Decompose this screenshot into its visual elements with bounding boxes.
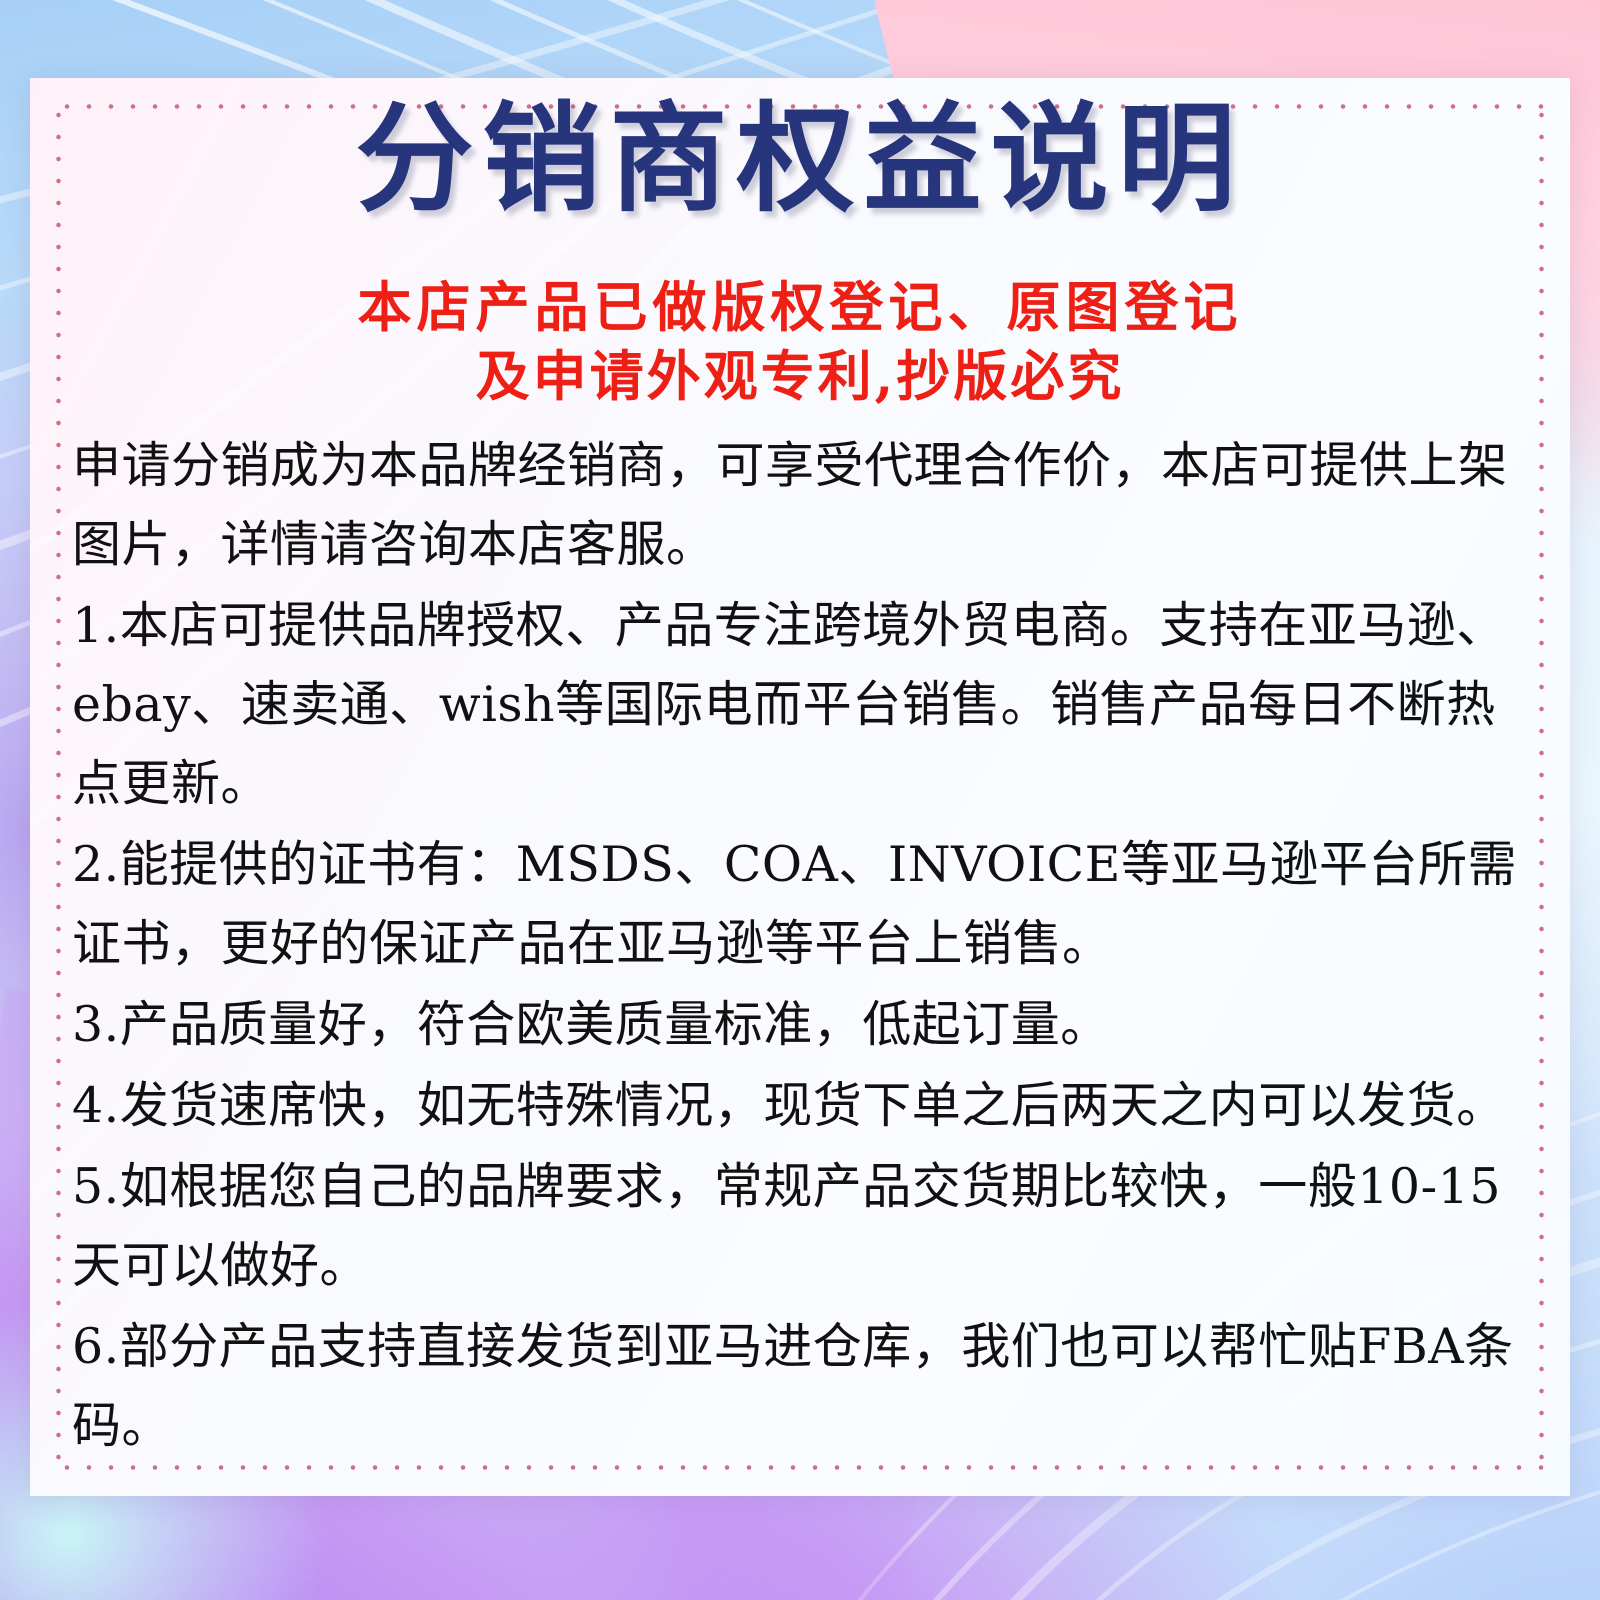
intro-paragraph: 申请分销成为本品牌经销商，可享受代理合作价，本店可提供上架图片，详情请咨询本店客… — [72, 426, 1540, 584]
list-item: 5.如根据您自己的品牌要求，常规产品交货期比较快，一般10-15天可以做好。 — [72, 1147, 1540, 1305]
copyright-notice-line-1: 本店产品已做版权登记、原图登记 — [30, 273, 1570, 342]
content-card: 分销商权益说明 本店产品已做版权登记、原图登记 及申请外观专利,抄版必究 申请分… — [30, 78, 1570, 1496]
poster-canvas: 分销商权益说明 本店产品已做版权登记、原图登记 及申请外观专利,抄版必究 申请分… — [0, 0, 1600, 1600]
list-item: 6.部分产品支持直接发货到亚马进仓库，我们也可以帮忙贴FBA条码。 — [72, 1307, 1540, 1465]
card-content: 分销商权益说明 本店产品已做版权登记、原图登记 及申请外观专利,抄版必究 申请分… — [30, 78, 1570, 1496]
body-text: 申请分销成为本品牌经销商，可享受代理合作价，本店可提供上架图片，详情请咨询本店客… — [72, 426, 1540, 1467]
page-title: 分销商权益说明 — [30, 98, 1570, 222]
copyright-notice: 本店产品已做版权登记、原图登记 及申请外观专利,抄版必究 — [30, 273, 1570, 411]
list-item: 1.本店可提供品牌授权、产品专注跨境外贸电商。支持在亚马逊、ebay、速卖通、w… — [72, 586, 1540, 823]
list-item: 2.能提供的证书有：MSDS、COA、INVOICE等亚马逊平台所需证书，更好的… — [72, 825, 1540, 983]
copyright-notice-line-2: 及申请外观专利,抄版必究 — [30, 342, 1570, 411]
list-item: 4.发货速席快，如无特殊情况，现货下单之后两天之内可以发货。 — [72, 1066, 1540, 1145]
list-item: 3.产品质量好，符合欧美质量标准，低起订量。 — [72, 985, 1540, 1064]
